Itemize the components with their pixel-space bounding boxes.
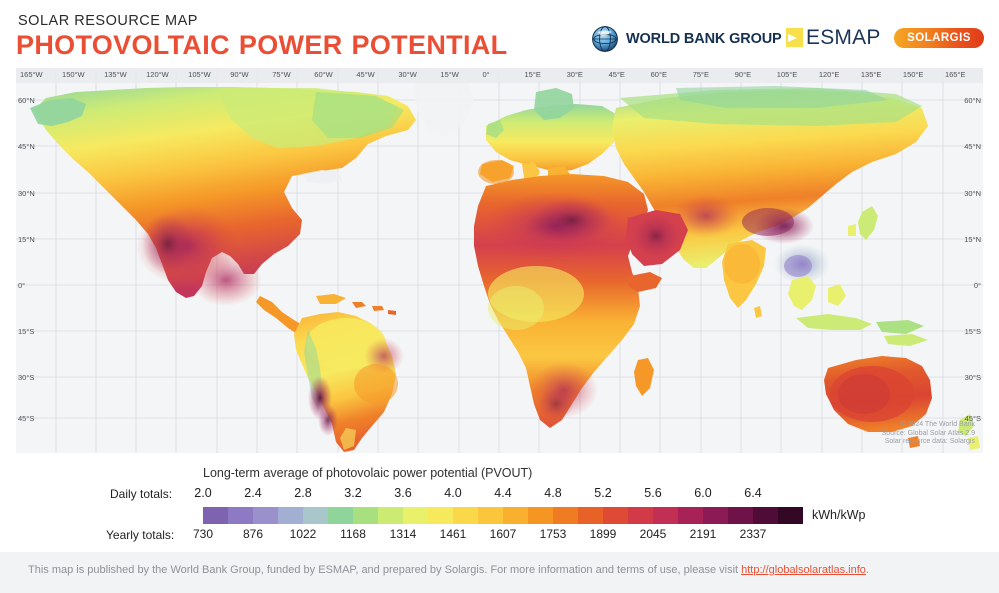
colorbar-segment — [753, 507, 778, 524]
colorbar-segment — [728, 507, 753, 524]
world-map[interactable]: 165°W150°W135°W120°W105°W90°W75°W60°W45°… — [16, 68, 983, 453]
yearly-tick-row: 7308761022116813141461160717531899204521… — [203, 527, 803, 543]
daily-totals-label: Daily totals: — [110, 487, 172, 501]
longitude-label: 75°E — [693, 70, 709, 79]
longitude-label: 45°W — [356, 70, 374, 79]
colorbar-segment — [278, 507, 303, 524]
latitude-label: 30°S — [18, 373, 34, 382]
latitude-label: 30°N — [18, 189, 35, 198]
footer-text-before: This map is published by the World Bank … — [28, 564, 741, 576]
colorbar-segment — [428, 507, 453, 524]
globe-icon — [591, 25, 619, 53]
yearly-tick-value: 1899 — [578, 527, 628, 543]
unit-label: kWh/kWp — [812, 507, 865, 524]
latitude-label: 0° — [974, 281, 981, 290]
daily-tick-value: 6.0 — [678, 486, 728, 502]
daily-tick-value: 2.8 — [278, 486, 328, 502]
daily-tick-value: 5.6 — [628, 486, 678, 502]
colorbar-segment — [228, 507, 253, 524]
longitude-label: 60°E — [651, 70, 667, 79]
daily-tick-value: 2.4 — [228, 486, 278, 502]
daily-tick-value: 3.2 — [328, 486, 378, 502]
colorbar-segment — [453, 507, 478, 524]
credit-line-2: Source: Global Solar Atlas 2.9 — [882, 430, 975, 439]
legend: Long-term average of photovolaic power p… — [0, 462, 999, 548]
longitude-label: 0° — [482, 70, 489, 79]
latitude-label: 30°S — [965, 373, 981, 382]
latitude-label: 60°N — [964, 96, 981, 105]
colorbar-segment — [378, 507, 403, 524]
longitude-label: 45°E — [609, 70, 625, 79]
latitude-label: 15°N — [18, 235, 35, 244]
longitude-label: 105°E — [777, 70, 798, 79]
yearly-tick-value: 1607 — [478, 527, 528, 543]
latitude-label: 60°N — [18, 96, 35, 105]
daily-tick-value: 4.0 — [428, 486, 478, 502]
longitude-label: 90°E — [735, 70, 751, 79]
colorbar-segment — [353, 507, 378, 524]
yearly-tick-value: 730 — [178, 527, 228, 543]
daily-tick-value: 3.6 — [378, 486, 428, 502]
longitude-label: 135°E — [861, 70, 882, 79]
colorbar-segment — [578, 507, 603, 524]
colorbar-segment — [478, 507, 503, 524]
map-credit: © 2024 The World Bank Source: Global Sol… — [882, 421, 975, 447]
longitude-label: 165°W — [20, 70, 43, 79]
longitude-label: 30°W — [398, 70, 416, 79]
yearly-tick-value: 2337 — [728, 527, 778, 543]
longitude-label: 30°E — [567, 70, 583, 79]
daily-tick-row: 2.02.42.83.23.64.04.44.85.25.66.06.4 — [203, 486, 803, 502]
longitude-label: 15°W — [440, 70, 458, 79]
title-word-3: POTENTIAL — [352, 30, 508, 60]
world-bank-group-logo[interactable]: WORLD BANK GROUP — [591, 25, 782, 53]
esmap-logo[interactable]: ESMAP — [786, 28, 881, 47]
daily-tick-value: 4.8 — [528, 486, 578, 502]
footer: This map is published by the World Bank … — [0, 552, 999, 593]
longitude-label: 120°E — [819, 70, 840, 79]
solargis-logo[interactable]: SOLARGIS — [894, 28, 984, 48]
colorbar-segment — [503, 507, 528, 524]
yearly-tick-value: 1461 — [428, 527, 478, 543]
latitude-label: 15°S — [965, 327, 981, 336]
colorbar-segment — [303, 507, 328, 524]
footer-text: This map is published by the World Bank … — [28, 564, 869, 576]
longitude-label: 120°W — [146, 70, 169, 79]
latitude-label: 0° — [18, 281, 25, 290]
latitude-label: 45°N — [18, 142, 35, 151]
latitude-label: 30°N — [964, 189, 981, 198]
yearly-tick-value: 1314 — [378, 527, 428, 543]
longitude-label: 150°E — [903, 70, 924, 79]
colorbar-segment — [528, 507, 553, 524]
longitude-label: 150°W — [62, 70, 85, 79]
legend-scale: 2.02.42.83.23.64.04.44.85.25.66.06.4 730… — [203, 462, 803, 548]
daily-tick-value: 2.0 — [178, 486, 228, 502]
title-word-2: POWER — [239, 30, 343, 60]
longitude-label: 90°W — [230, 70, 248, 79]
latitude-label: 15°S — [18, 327, 34, 336]
esmap-logo-text: ESMAP — [806, 28, 881, 47]
colorbar-segment — [203, 507, 228, 524]
longitude-label: 60°W — [314, 70, 332, 79]
colorbar-segment — [328, 507, 353, 524]
yearly-tick-value: 1753 — [528, 527, 578, 543]
daily-tick-value: 5.2 — [578, 486, 628, 502]
yearly-tick-value: 1022 — [278, 527, 328, 543]
header: SOLAR RESOURCE MAP PHOTOVOLTAICPOWERPOTE… — [0, 0, 999, 68]
colorbar-segment — [403, 507, 428, 524]
colorbar-segment — [553, 507, 578, 524]
map-raster — [16, 68, 983, 453]
esmap-mark-icon — [786, 28, 803, 47]
colorbar — [203, 507, 803, 524]
yearly-tick-value: 1168 — [328, 527, 378, 543]
longitude-label: 75°W — [272, 70, 290, 79]
colorbar-segment — [778, 507, 803, 524]
page-kicker: SOLAR RESOURCE MAP — [18, 13, 198, 29]
daily-tick-value: 6.4 — [728, 486, 778, 502]
colorbar-segment — [653, 507, 678, 524]
page-title: PHOTOVOLTAICPOWERPOTENTIAL — [16, 30, 507, 61]
credit-line-3: Solar resource data: Solargis — [882, 438, 975, 447]
latitude-label: 45°S — [18, 414, 34, 423]
colorbar-segment — [628, 507, 653, 524]
yearly-totals-label: Yearly totals: — [106, 528, 174, 542]
longitude-label: 15°E — [525, 70, 541, 79]
colorbar-segment — [703, 507, 728, 524]
yearly-tick-value: 876 — [228, 527, 278, 543]
daily-tick-value: 4.4 — [478, 486, 528, 502]
colorbar-segment — [678, 507, 703, 524]
global-solar-atlas-link[interactable]: http://globalsolaratlas.info — [741, 564, 866, 576]
credit-line-1: © 2024 The World Bank — [882, 421, 975, 430]
solar-resource-map-page: SOLAR RESOURCE MAP PHOTOVOLTAICPOWERPOTE… — [0, 0, 999, 593]
latitude-label: 45°N — [964, 142, 981, 151]
world-bank-logo-text: WORLD BANK GROUP — [626, 31, 782, 47]
latitude-label: 15°N — [964, 235, 981, 244]
colorbar-segment — [603, 507, 628, 524]
solargis-logo-text: SOLARGIS — [907, 32, 971, 44]
longitude-label: 135°W — [104, 70, 127, 79]
colorbar-segment — [253, 507, 278, 524]
longitude-label: 105°W — [188, 70, 211, 79]
title-word-1: PHOTOVOLTAIC — [16, 30, 230, 60]
footer-text-after: . — [866, 564, 869, 576]
longitude-label: 165°E — [945, 70, 966, 79]
yearly-tick-value: 2045 — [628, 527, 678, 543]
yearly-tick-value: 2191 — [678, 527, 728, 543]
